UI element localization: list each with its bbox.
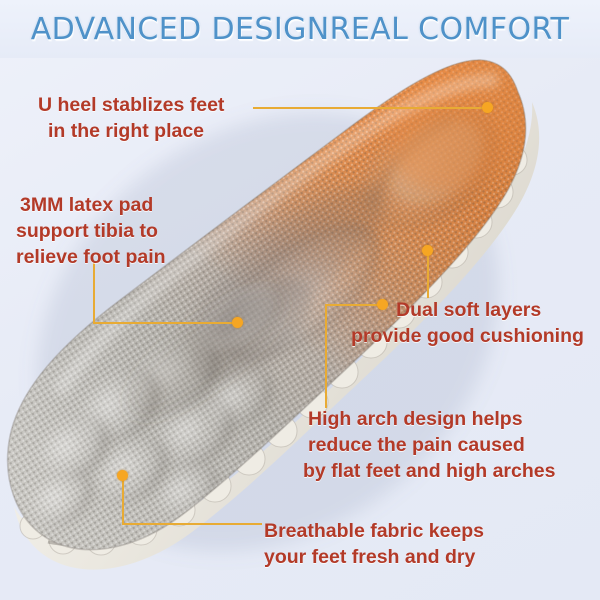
callout-latex-pad-line-1: 3MM latex pad	[20, 192, 166, 218]
leader-line-breathable-horizontal	[122, 523, 262, 525]
callout-dual-layers: Dual soft layers provide good cushioning	[388, 297, 584, 349]
callout-dual-layers-line-2: provide good cushioning	[351, 323, 584, 349]
infographic-canvas: ADVANCED DESIGNREAL COMFORT U heel stabl…	[0, 0, 600, 600]
callout-dual-layers-line-1: Dual soft layers	[396, 297, 584, 323]
callout-high-arch-line-3: by flat feet and high arches	[303, 458, 555, 484]
marker-dot-high-arch	[377, 299, 388, 310]
leader-line-high-arch-horizontal	[325, 304, 383, 306]
leader-line-high-arch-vertical	[325, 304, 327, 408]
callout-breathable-line-1: Breathable fabric keeps	[264, 518, 484, 544]
title-bar: ADVANCED DESIGNREAL COMFORT	[0, 0, 600, 58]
callout-latex-pad-line-3: relieve foot pain	[16, 244, 166, 270]
callout-u-heel-line-1: U heel stablizes feet	[38, 92, 224, 118]
marker-dot-u-heel	[482, 102, 493, 113]
leader-line-u-heel	[253, 107, 482, 109]
callout-breathable-line-2: your feet fresh and dry	[264, 544, 484, 570]
callout-u-heel: U heel stablizes feet in the right place	[38, 92, 224, 144]
marker-dot-breathable	[117, 470, 128, 481]
callout-high-arch-line-1: High arch design helps	[308, 406, 555, 432]
callout-latex-pad-line-2: support tibia to	[16, 218, 166, 244]
marker-dot-latex-pad	[232, 317, 243, 328]
callout-high-arch-line-2: reduce the pain caused	[308, 432, 555, 458]
leader-line-dual-layers	[427, 251, 429, 298]
page-title: ADVANCED DESIGNREAL COMFORT	[31, 12, 570, 47]
leader-line-breathable-vertical	[122, 476, 124, 524]
callout-breathable: Breathable fabric keeps your feet fresh …	[264, 518, 484, 570]
callout-latex-pad: 3MM latex pad support tibia to relieve f…	[16, 192, 166, 270]
leader-line-latex-pad-vertical	[93, 262, 95, 324]
marker-dot-dual-layers	[422, 245, 433, 256]
callout-high-arch: High arch design helps reduce the pain c…	[308, 406, 555, 484]
callout-u-heel-line-2: in the right place	[48, 118, 224, 144]
leader-line-latex-pad-horizontal	[93, 322, 238, 324]
